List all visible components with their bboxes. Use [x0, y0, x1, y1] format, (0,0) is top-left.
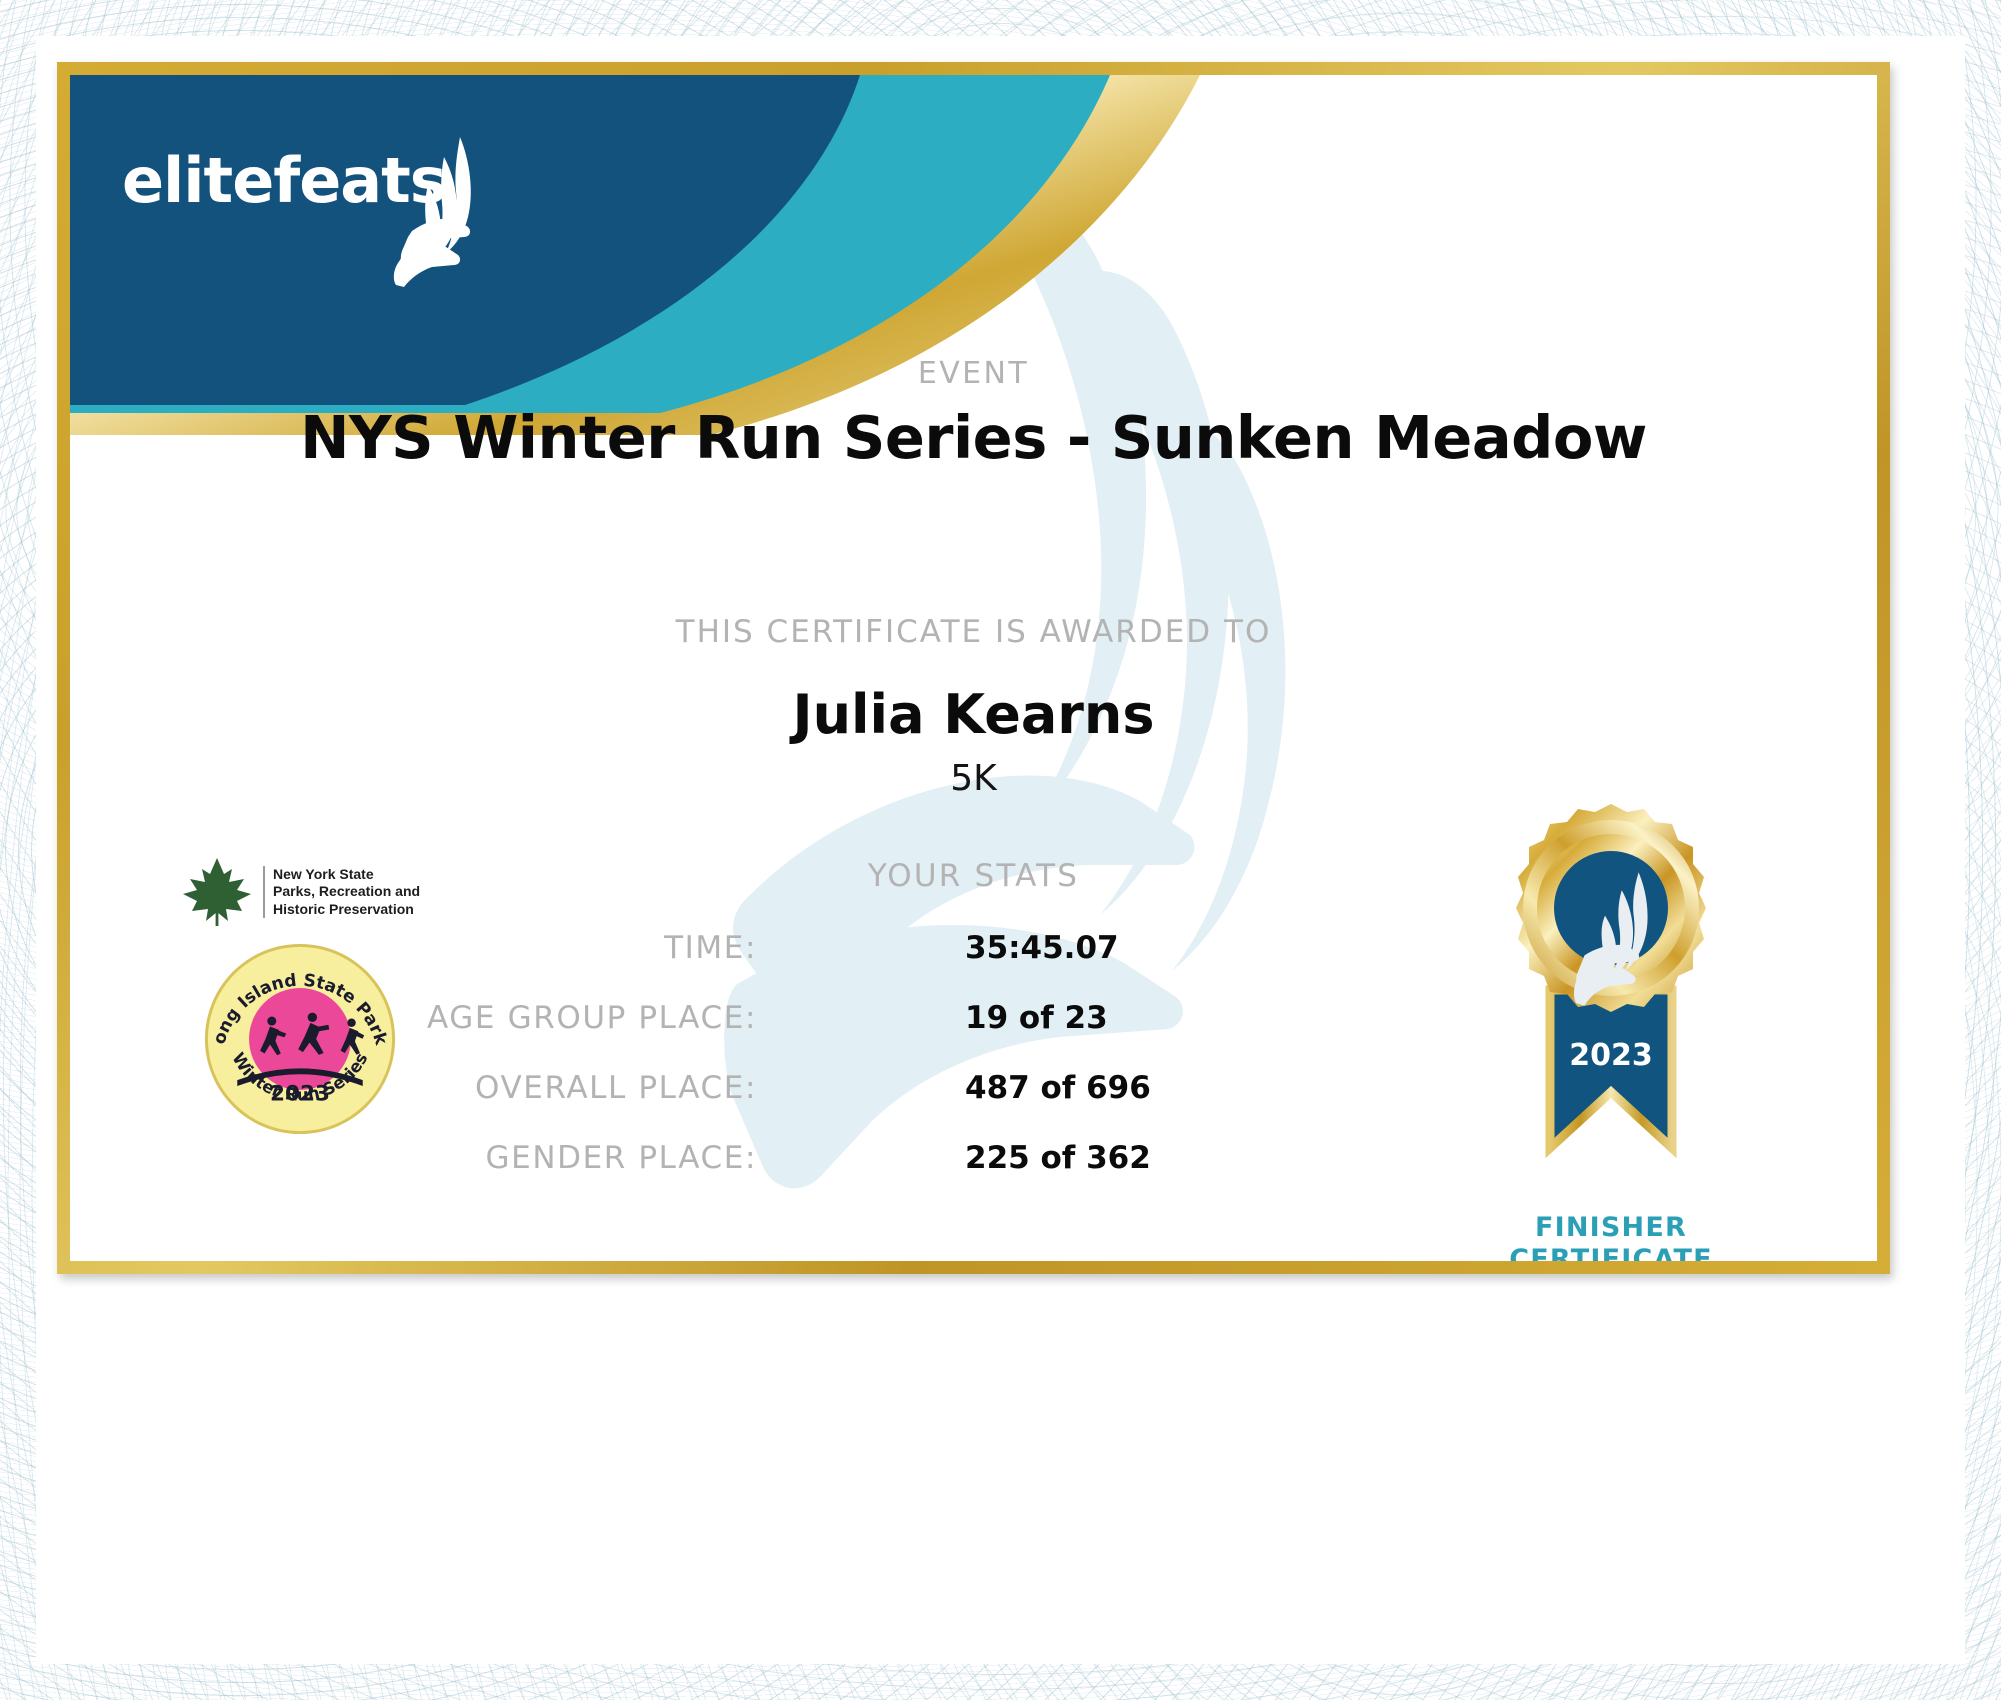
ribbon-year: 2023 [1569, 1038, 1653, 1073]
nys-parks-agency-text: New York State Parks, Recreation and His… [263, 866, 420, 917]
stat-value-age-group-place: 19 of 23 [965, 1000, 1108, 1036]
seal-year: 2023 [270, 1082, 330, 1107]
winter-run-series-seal: Long Island State Parks Winter Run Serie… [202, 941, 398, 1137]
event-name: NYS Winter Run Series - Sunken Meadow [70, 403, 1877, 472]
agency-line-1: New York State [273, 866, 420, 883]
nys-parks-logo: New York State Parks, Recreation and His… [180, 855, 440, 929]
badge-caption-line-2: CERTIFICATE [1466, 1244, 1756, 1261]
stat-value-overall-place: 487 of 696 [965, 1070, 1151, 1106]
agency-line-2: Parks, Recreation and [273, 883, 420, 900]
certificate-canvas: elitefeats EVENT NYS Winter Run Series -… [70, 75, 1877, 1261]
distance-label: 5K [70, 758, 1877, 799]
certificate-content: EVENT NYS Winter Run Series - Sunken Mea… [70, 75, 1877, 1261]
gold-frame: elitefeats EVENT NYS Winter Run Series -… [57, 62, 1890, 1274]
badge-caption: FINISHER CERTIFICATE [1466, 1212, 1756, 1261]
stat-value-gender-place: 225 of 362 [965, 1140, 1151, 1176]
participant-name: Julia Kearns [70, 683, 1877, 746]
maple-leaf-icon [180, 855, 254, 929]
awarded-to-label: THIS CERTIFICATE IS AWARDED TO [70, 614, 1877, 650]
partner-logo: New York State Parks, Recreation and His… [180, 855, 440, 1141]
event-label: EVENT [70, 356, 1877, 391]
certificate-page: elitefeats EVENT NYS Winter Run Series -… [0, 0, 2001, 1700]
finisher-badge: 2023 [1466, 800, 1756, 1261]
stat-label-gender-place: GENDER PLACE: [70, 1140, 757, 1176]
badge-caption-line-1: FINISHER [1466, 1212, 1756, 1244]
agency-line-3: Historic Preservation [273, 901, 420, 918]
winged-foot-medal-icon: 2023 [1466, 800, 1756, 1200]
stat-value-time: 35:45.07 [965, 930, 1119, 966]
